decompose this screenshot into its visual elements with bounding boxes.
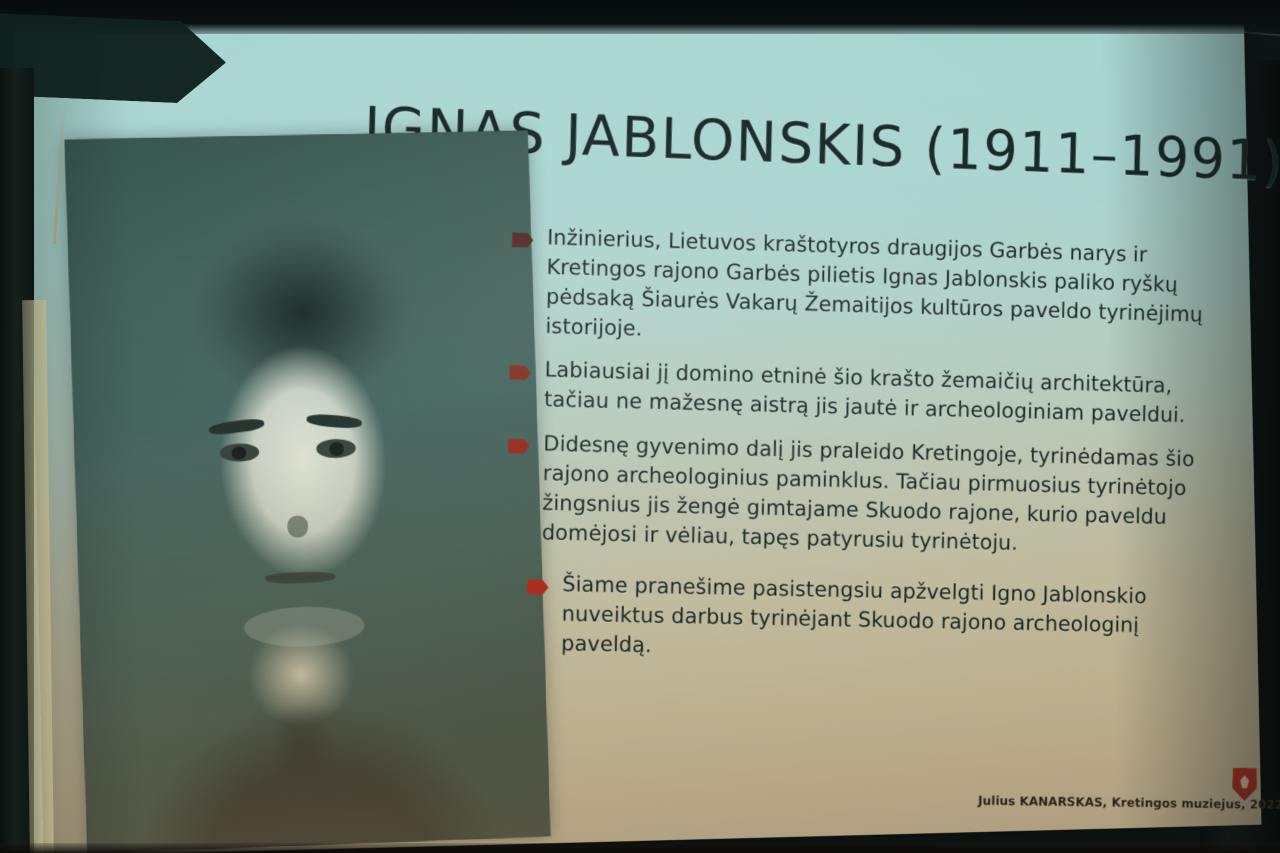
footer-credit: Julius KANARSKAS, Kretingos muziejus, 20… — [978, 793, 1262, 812]
presentation-slide: IGNAS JABLONSKIS (1911–1991) — [14, 15, 1261, 853]
arrow-bullet-icon — [527, 580, 549, 595]
emblem-inner-mark — [1240, 775, 1249, 788]
bullet-text: Labiausiai jį domino etninė šio krašto ž… — [544, 356, 1220, 432]
slide-content: IGNAS JABLONSKIS (1911–1991) — [14, 15, 1261, 853]
room-dark-band-top — [0, 0, 1280, 34]
bullet-text: Šiame pranešime pasistengsiu apžvelgti I… — [561, 570, 1216, 672]
arrow-bullet-icon — [509, 365, 531, 380]
list-item: Labiausiai jį domino etninė šio krašto ž… — [509, 355, 1220, 432]
bullet-text: Didesnę gyvenimo dalį jis praleido Kreti… — [542, 429, 1219, 562]
bullet-text: Inžinierius, Lietuvos kraštotyros draugi… — [545, 224, 1222, 361]
portrait-photo — [64, 131, 550, 853]
list-item: Didesnę gyvenimo dalį jis praleido Kreti… — [506, 429, 1218, 563]
arrow-bullet-icon — [512, 232, 534, 247]
bullet-list: Inžinierius, Lietuvos kraštotyros draugi… — [504, 222, 1222, 685]
screenshot-root: IGNAS JABLONSKIS (1911–1991) — [0, 0, 1280, 853]
photo-warm-falloff — [64, 131, 550, 853]
projection-screen: IGNAS JABLONSKIS (1911–1991) — [14, 22, 1280, 853]
list-item: Inžinierius, Lietuvos kraštotyros draugi… — [510, 222, 1222, 360]
arrow-bullet-icon — [508, 438, 530, 453]
list-item: Šiame pranešime pasistengsiu apžvelgti I… — [526, 570, 1216, 672]
room-dark-band-bottom — [0, 843, 1280, 853]
